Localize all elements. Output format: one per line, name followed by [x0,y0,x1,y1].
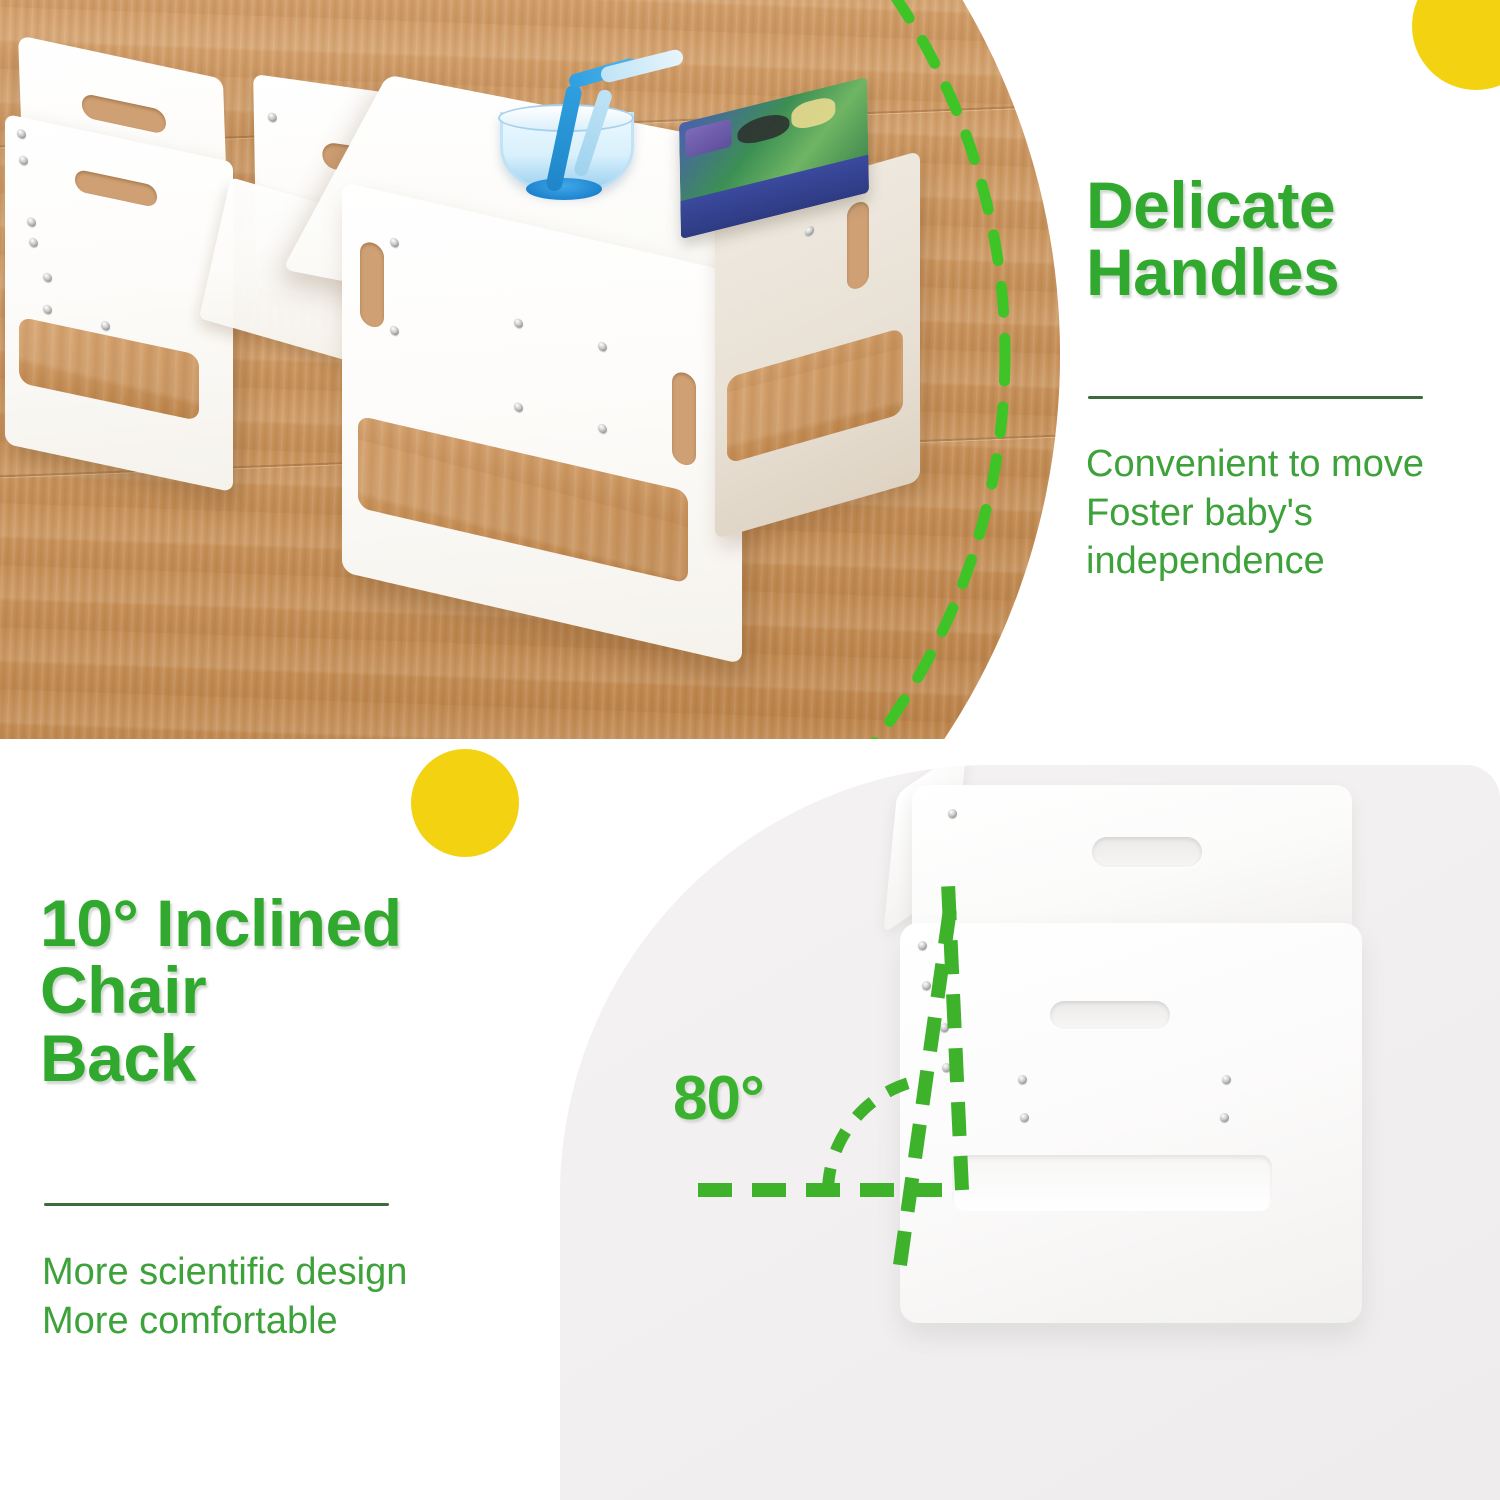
table-leg-cutout-right [727,327,903,463]
photo-circle-mask [0,0,1060,739]
chair-side-handle-slot [1050,1001,1170,1029]
chair-rail-slot [952,1155,1272,1211]
feature-bottom-headline: 10° Inclined Chair Back [40,890,560,1092]
feature-bottom-body: More scientific design More comfortable [42,1248,562,1345]
chair-side-panel [900,923,1362,1323]
decor-yellow-circle-top-right [1412,0,1500,90]
product-photo-table-and-chairs [0,0,1060,739]
chair-side-panel-left [5,114,233,492]
decor-yellow-circle-middle-left [411,749,519,857]
feature-top-body: Convenient to move Foster baby's indepen… [1086,440,1486,586]
chair-backrest-handle-slot [1092,837,1202,867]
infographic-canvas: Delicate Handles Convenient to move Fost… [0,0,1500,1500]
chair-leg-cutout-left [19,317,199,421]
feature-top-headline: Delicate Handles [1086,172,1486,307]
bowl-suction-base [526,178,602,200]
chair-backrest-board [912,785,1352,925]
feature-bottom-divider [44,1203,389,1206]
table-leg-cutout-front [358,416,688,584]
feature-top-divider [1088,396,1423,399]
angle-label: 80° [673,1063,764,1134]
chair-angle-panel: 80° [560,765,1500,1500]
